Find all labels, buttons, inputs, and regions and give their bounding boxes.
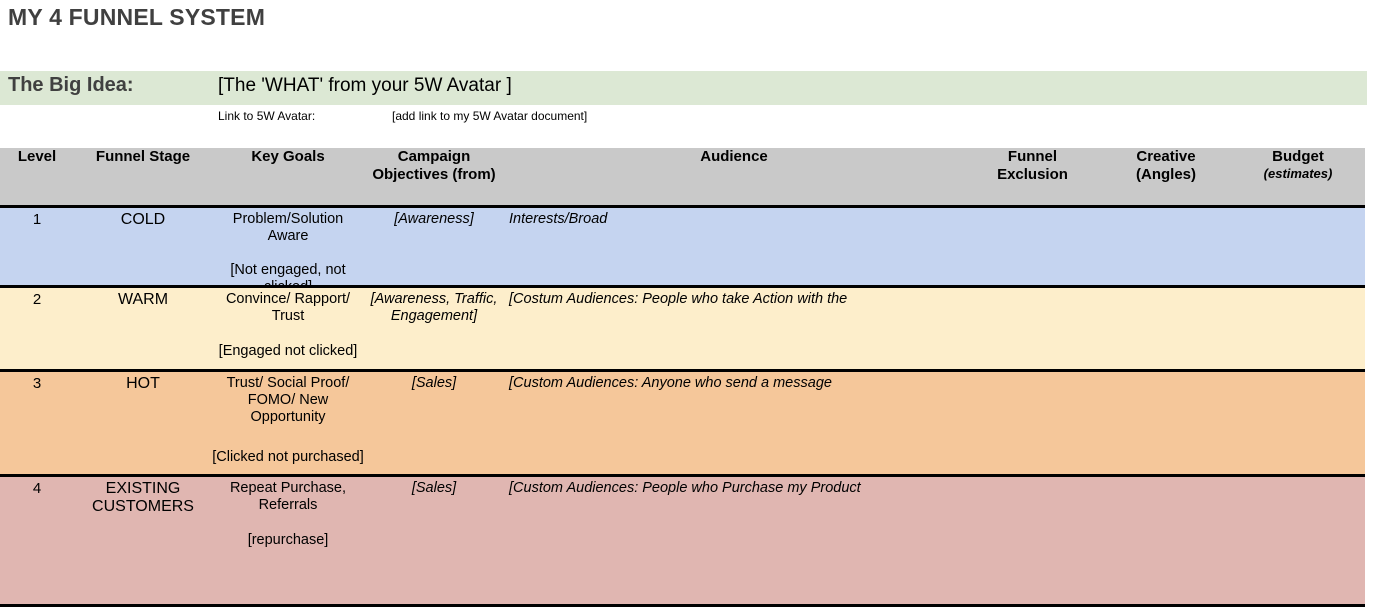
row3-key-goals-note: [Clicked not purchased]: [212, 449, 364, 466]
row3-level: 3: [0, 375, 74, 393]
cell-budget: [65% of total budget]: [1231, 206, 1365, 286]
column-header-level-label: Level: [18, 148, 56, 165]
row4-level: 4: [0, 480, 74, 498]
cell-level: 1: [0, 206, 74, 286]
big-idea-label: The Big Idea:: [8, 74, 134, 97]
column-header-funnel-stage-label: Funnel Stage: [96, 148, 190, 165]
row2-campaign-objectives: [Awareness, Traffic, Engagement]: [364, 291, 504, 325]
row4-audience: [Custom Audiences: People who Purchase m…: [509, 480, 962, 497]
cell-key-goals: Trust/ Social Proof/ FOMO/ New Opportuni…: [212, 370, 364, 475]
table-header-row: Level Funnel Stage Key Goals Campaign Ob…: [0, 148, 1365, 206]
column-header-funnel-exclusion: Funnel Exclusion: [964, 148, 1101, 206]
row4-key-goals: Repeat Purchase, Referrals: [212, 480, 364, 514]
row3-funnel-stage: HOT: [74, 375, 212, 394]
link-to-avatar-label: Link to 5W Avatar:: [218, 109, 315, 123]
row4-funnel-stage: EXISTING CUSTOMERS: [74, 480, 212, 518]
cell-funnel-stage: HOT: [74, 370, 212, 475]
cell-campaign-objectives: [Awareness]: [364, 206, 504, 286]
cell-level: 3: [0, 370, 74, 475]
big-idea-band: [0, 71, 1367, 105]
cell-campaign-objectives: [Sales]: [364, 370, 504, 475]
cell-campaign-objectives: [Sales]: [364, 475, 504, 605]
cell-level: 4: [0, 475, 74, 605]
row1-level: 1: [0, 211, 74, 229]
column-header-funnel-exclusion-line2: Exclusion: [997, 166, 1068, 183]
column-header-funnel-stage: Funnel Stage: [74, 148, 212, 206]
row2-level: 2: [0, 291, 74, 309]
row4-key-goals-note: [repurchase]: [212, 532, 364, 549]
column-header-creative: Creative (Angles): [1101, 148, 1231, 206]
row1-funnel-stage: COLD: [74, 211, 212, 230]
cell-funnel-stage: WARM: [74, 286, 212, 370]
cell-audience: Interests/Broad: [504, 206, 964, 286]
column-header-budget-sub: (estimates): [1231, 166, 1365, 182]
page-title: MY 4 FUNNEL SYSTEM: [8, 4, 265, 31]
cell-budget: [15% of total budget]: [1231, 286, 1365, 370]
table-row[interactable]: 2 WARM Convince/ Rapport/ Trust [Engaged…: [0, 286, 1365, 370]
cell-campaign-objectives: [Awareness, Traffic, Engagement]: [364, 286, 504, 370]
row4-campaign-objectives: [Sales]: [364, 480, 504, 497]
row3-audience: [Custom Audiences: Anyone who send a mes…: [509, 375, 962, 392]
column-header-funnel-exclusion-line1: Funnel: [1008, 148, 1057, 165]
cell-funnel-exclusion: [964, 475, 1101, 605]
column-header-creative-line2: (Angles): [1136, 166, 1196, 183]
cell-creative: [Solve Problems, Functional Benefits]: [1101, 206, 1231, 286]
cell-funnel-exclusion: WARM, HOT, EXISTING: [964, 206, 1101, 286]
cell-funnel-stage: EXISTING CUSTOMERS: [74, 475, 212, 605]
cell-audience: [Custom Audiences: People who Purchase m…: [504, 475, 964, 605]
row2-key-goals-note: [Engaged not clicked]: [212, 343, 364, 360]
cell-key-goals: Convince/ Rapport/ Trust [Engaged not cl…: [212, 286, 364, 370]
cell-budget: [10% of total budget]: [1231, 370, 1365, 475]
row2-audience: [Costum Audiences: People who take Actio…: [509, 291, 962, 308]
row1-key-goals: Problem/Solution Aware: [212, 211, 364, 245]
column-header-key-goals: Key Goals: [212, 148, 364, 206]
row3-key-goals: Trust/ Social Proof/ FOMO/ New Opportuni…: [212, 375, 364, 426]
row1-key-goals-note: [Not engaged, not clicked]: [212, 262, 364, 287]
cell-funnel-exclusion: HOT, EXISTING: [964, 286, 1101, 370]
big-idea-value[interactable]: [The 'WHAT' from your 5W Avatar ]: [218, 75, 512, 97]
row2-funnel-stage: WARM: [74, 291, 212, 310]
column-header-budget: Budget (estimates): [1231, 148, 1365, 206]
column-header-campaign-objectives-line2: Objectives (from): [372, 166, 495, 183]
cell-funnel-stage: COLD: [74, 206, 212, 286]
column-header-audience-label: Audience: [700, 148, 768, 165]
cell-key-goals: Problem/Solution Aware [Not engaged, not…: [212, 206, 364, 286]
column-header-creative-line1: Creative: [1136, 148, 1195, 165]
link-to-avatar-value[interactable]: [add link to my 5W Avatar document]: [392, 109, 587, 123]
column-header-campaign-objectives-line1: Campaign: [398, 148, 471, 165]
row1-campaign-objectives: [Awareness]: [364, 211, 504, 228]
cell-budget: [10% of total budget]: [1231, 475, 1365, 605]
cell-creative: [Product Benefits, Testimonials, Reviews…: [1101, 286, 1231, 370]
column-header-level: Level: [0, 148, 74, 206]
row3-campaign-objectives: [Sales]: [364, 375, 504, 392]
cell-key-goals: Repeat Purchase, Referrals [repurchase]: [212, 475, 364, 605]
cell-audience: [Costum Audiences: People who take Actio…: [504, 286, 964, 370]
column-header-key-goals-label: Key Goals: [251, 148, 324, 165]
table-row[interactable]: 4 EXISTING CUSTOMERS Repeat Purchase, Re…: [0, 475, 1365, 605]
column-header-budget-label: Budget: [1272, 148, 1324, 165]
column-header-audience: Audience: [504, 148, 964, 206]
cell-creative: [New Product Designs, Loyalty Cards, Dis…: [1101, 475, 1231, 605]
cell-creative: [Urgency, limited offer only, Testimonia…: [1101, 370, 1231, 475]
table-row[interactable]: 3 HOT Trust/ Social Proof/ FOMO/ New Opp…: [0, 370, 1365, 475]
funnel-system-table: Level Funnel Stage Key Goals Campaign Ob…: [0, 148, 1365, 607]
cell-level: 2: [0, 286, 74, 370]
row1-audience: Interests/Broad: [509, 211, 962, 228]
row2-key-goals: Convince/ Rapport/ Trust: [212, 291, 364, 325]
cell-audience: [Custom Audiences: Anyone who send a mes…: [504, 370, 964, 475]
cell-funnel-exclusion: EXISTING: [964, 370, 1101, 475]
table-row[interactable]: 1 COLD Problem/Solution Aware [Not engag…: [0, 206, 1365, 286]
column-header-campaign-objectives: Campaign Objectives (from): [364, 148, 504, 206]
